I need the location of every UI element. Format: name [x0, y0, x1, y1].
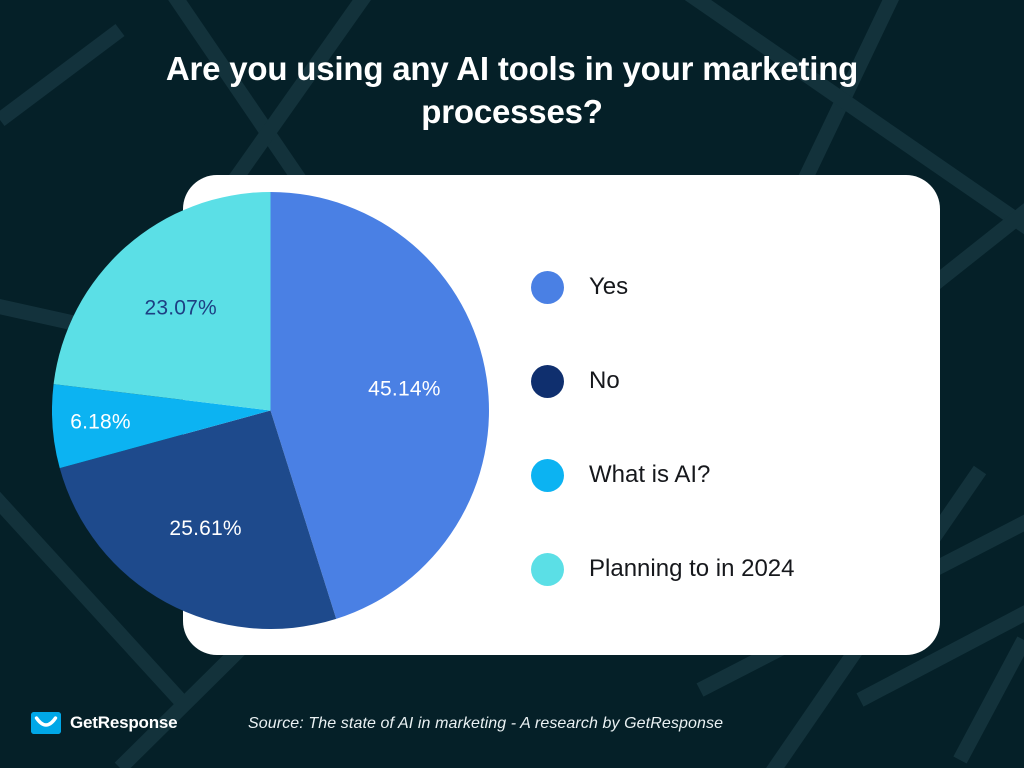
legend-label-planning: Planning to in 2024: [589, 557, 795, 581]
page-title: Are you using any AI tools in your marke…: [0, 48, 1024, 134]
source-note: Source: The state of AI in marketing - A…: [248, 715, 723, 733]
legend-item-no[interactable]: No: [531, 334, 911, 428]
legend-swatch-planning: [531, 553, 564, 586]
footer: GetResponse Source: The state of AI in m…: [0, 700, 1024, 752]
pie-slice-label: 23.07%: [144, 297, 216, 320]
legend-label-what-is-ai: What is AI?: [589, 463, 710, 487]
legend-label-yes: Yes: [589, 275, 628, 299]
brand-name: GetResponse: [70, 713, 177, 733]
envelope-swoosh-icon: [31, 712, 61, 734]
legend-item-what-is-ai[interactable]: What is AI?: [531, 428, 911, 522]
legend-item-planning[interactable]: Planning to in 2024: [531, 522, 911, 616]
pie-slice-label: 25.61%: [169, 517, 241, 540]
brand-logo[interactable]: GetResponse: [31, 712, 177, 734]
legend-swatch-no: [531, 365, 564, 398]
legend-swatch-what-is-ai: [531, 459, 564, 492]
chart-legend: Yes No What is AI? Planning to in 2024: [531, 240, 911, 616]
legend-swatch-yes: [531, 271, 564, 304]
pie-chart: 45.14%25.61%6.18%23.07%: [52, 192, 489, 629]
infographic-page: { "title": "Are you using any AI tools i…: [0, 0, 1024, 768]
pie-slice-label: 6.18%: [70, 410, 131, 433]
legend-item-yes[interactable]: Yes: [531, 240, 911, 334]
pie-slice-label: 45.14%: [368, 377, 440, 400]
legend-label-no: No: [589, 369, 620, 393]
